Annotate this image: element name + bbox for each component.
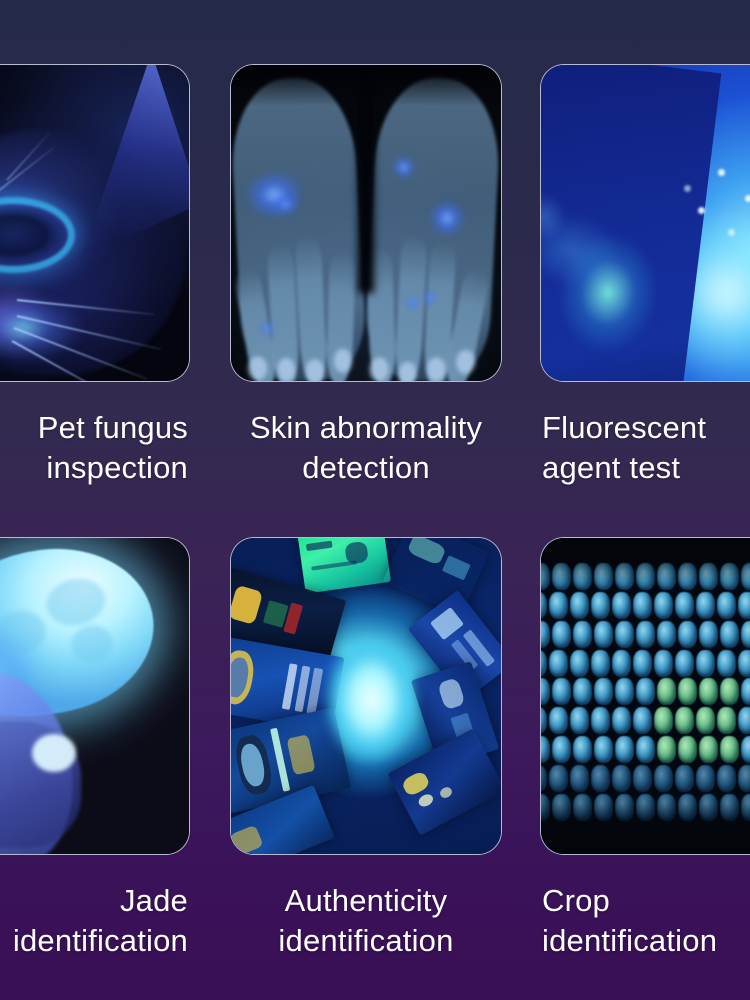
corn-kernel bbox=[720, 621, 739, 648]
corn-kernel bbox=[549, 765, 568, 792]
corn-kernel bbox=[633, 592, 652, 619]
corn-kernel bbox=[738, 592, 750, 619]
tile-caption: Fluorescent agent test bbox=[540, 408, 750, 487]
corn-kernel bbox=[675, 765, 694, 792]
tile-crop-identification[interactable]: Crop identification bbox=[540, 537, 750, 960]
corn-kernel bbox=[591, 650, 610, 677]
corn-kernel bbox=[636, 678, 655, 705]
tile-image-frame bbox=[540, 537, 750, 855]
tile-fluorescent-agent-test[interactable]: Fluorescent agent test bbox=[540, 64, 750, 487]
corn-kernel bbox=[552, 736, 571, 763]
corn-kernel bbox=[699, 621, 718, 648]
corn-kernel bbox=[657, 621, 676, 648]
corn-kernel bbox=[678, 736, 697, 763]
tile-authenticity-identification[interactable]: Authenticity identification bbox=[230, 537, 502, 960]
corn-kernel bbox=[541, 650, 547, 677]
corn-kernel bbox=[594, 621, 613, 648]
corn-kernel bbox=[720, 678, 739, 705]
corn-kernel bbox=[591, 592, 610, 619]
corn-kernel bbox=[573, 621, 592, 648]
corn-kernel bbox=[717, 765, 736, 792]
cat-uv-photo bbox=[0, 65, 189, 381]
corn-kernel-row bbox=[541, 736, 750, 763]
corn-kernel bbox=[541, 707, 547, 734]
corn-kernel bbox=[594, 678, 613, 705]
corn-kernel bbox=[741, 736, 750, 763]
corn-kernel bbox=[570, 650, 589, 677]
jade-uv-photo bbox=[0, 538, 189, 854]
corn-kernel bbox=[549, 707, 568, 734]
fluorescent-agent-uv-photo bbox=[541, 65, 750, 381]
corn-kernel bbox=[636, 736, 655, 763]
corn-kernel-row bbox=[541, 707, 750, 734]
corn-kernel bbox=[654, 592, 673, 619]
hands-uv-photo bbox=[231, 65, 501, 381]
corn-kernel bbox=[633, 650, 652, 677]
corn-kernel-row bbox=[541, 621, 750, 648]
corn-kernel-row bbox=[541, 650, 750, 677]
corn-kernel bbox=[541, 678, 550, 705]
corn-kernel bbox=[612, 707, 631, 734]
corn-kernel bbox=[696, 650, 715, 677]
corn-kernel bbox=[738, 765, 750, 792]
corn-kernel bbox=[657, 736, 676, 763]
corn-kernel bbox=[717, 592, 736, 619]
tile-image-frame bbox=[0, 64, 190, 382]
corn-kernel bbox=[717, 707, 736, 734]
corn-kernel bbox=[541, 592, 547, 619]
corn-kernel bbox=[654, 707, 673, 734]
corn-kernel bbox=[549, 650, 568, 677]
tile-image-frame bbox=[230, 64, 502, 382]
corn-uv-photo bbox=[541, 538, 750, 854]
corn-kernel bbox=[591, 707, 610, 734]
corn-kernel bbox=[615, 678, 634, 705]
corn-kernel bbox=[615, 736, 634, 763]
tile-caption: Crop identification bbox=[540, 881, 750, 960]
corn-kernel bbox=[717, 650, 736, 677]
tile-image-frame bbox=[230, 537, 502, 855]
corn-kernel bbox=[612, 765, 631, 792]
corn-kernel bbox=[541, 765, 547, 792]
corn-kernel bbox=[612, 650, 631, 677]
corn-kernel-row bbox=[541, 592, 750, 619]
tile-skin-abnormality-detection[interactable]: Skin abnormality detection bbox=[230, 64, 502, 487]
corn-kernel bbox=[570, 707, 589, 734]
corn-kernel bbox=[657, 678, 676, 705]
corn-kernel bbox=[549, 592, 568, 619]
tile-caption: Jade identification bbox=[0, 881, 190, 960]
corn-kernel bbox=[696, 765, 715, 792]
corn-kernel bbox=[573, 736, 592, 763]
corn-kernel bbox=[720, 736, 739, 763]
corn-kernel bbox=[633, 765, 652, 792]
corn-kernel bbox=[741, 678, 750, 705]
corn-kernel bbox=[699, 736, 718, 763]
corn-kernel bbox=[699, 678, 718, 705]
corn-kernel bbox=[615, 621, 634, 648]
corn-kernel bbox=[696, 592, 715, 619]
corn-kernel bbox=[541, 736, 550, 763]
banknotes-uv-photo bbox=[231, 538, 501, 854]
corn-kernel bbox=[696, 707, 715, 734]
tile-image-frame bbox=[0, 537, 190, 855]
corn-kernel bbox=[636, 621, 655, 648]
corn-kernel bbox=[654, 650, 673, 677]
corn-kernel bbox=[654, 765, 673, 792]
corn-kernel bbox=[612, 592, 631, 619]
corn-kernel bbox=[570, 765, 589, 792]
tile-jade-identification[interactable]: Jade identification bbox=[0, 537, 190, 960]
corn-kernel-row bbox=[541, 765, 750, 792]
corn-kernel bbox=[738, 650, 750, 677]
tile-caption: Skin abnormality detection bbox=[230, 408, 502, 487]
corn-kernel bbox=[678, 678, 697, 705]
corn-kernel bbox=[570, 592, 589, 619]
corn-kernel bbox=[541, 621, 550, 648]
corn-kernel bbox=[633, 707, 652, 734]
corn-kernel bbox=[591, 765, 610, 792]
corn-kernel bbox=[675, 650, 694, 677]
corn-kernel bbox=[741, 621, 750, 648]
corn-kernel bbox=[552, 621, 571, 648]
corn-kernel bbox=[675, 592, 694, 619]
tile-image-frame bbox=[540, 64, 750, 382]
corn-kernel bbox=[594, 736, 613, 763]
corn-kernel-row bbox=[541, 678, 750, 705]
corn-kernel bbox=[738, 707, 750, 734]
tile-caption: Authenticity identification bbox=[230, 881, 502, 960]
corn-kernel bbox=[678, 621, 697, 648]
corn-kernel bbox=[573, 678, 592, 705]
corn-kernel bbox=[675, 707, 694, 734]
tile-caption: Pet fungus inspection bbox=[0, 408, 190, 487]
corn-kernel bbox=[552, 678, 571, 705]
tile-pet-fungus-inspection[interactable]: Pet fungus inspection bbox=[0, 64, 190, 487]
uv-application-poster: Pet fungus inspection bbox=[0, 0, 750, 1000]
